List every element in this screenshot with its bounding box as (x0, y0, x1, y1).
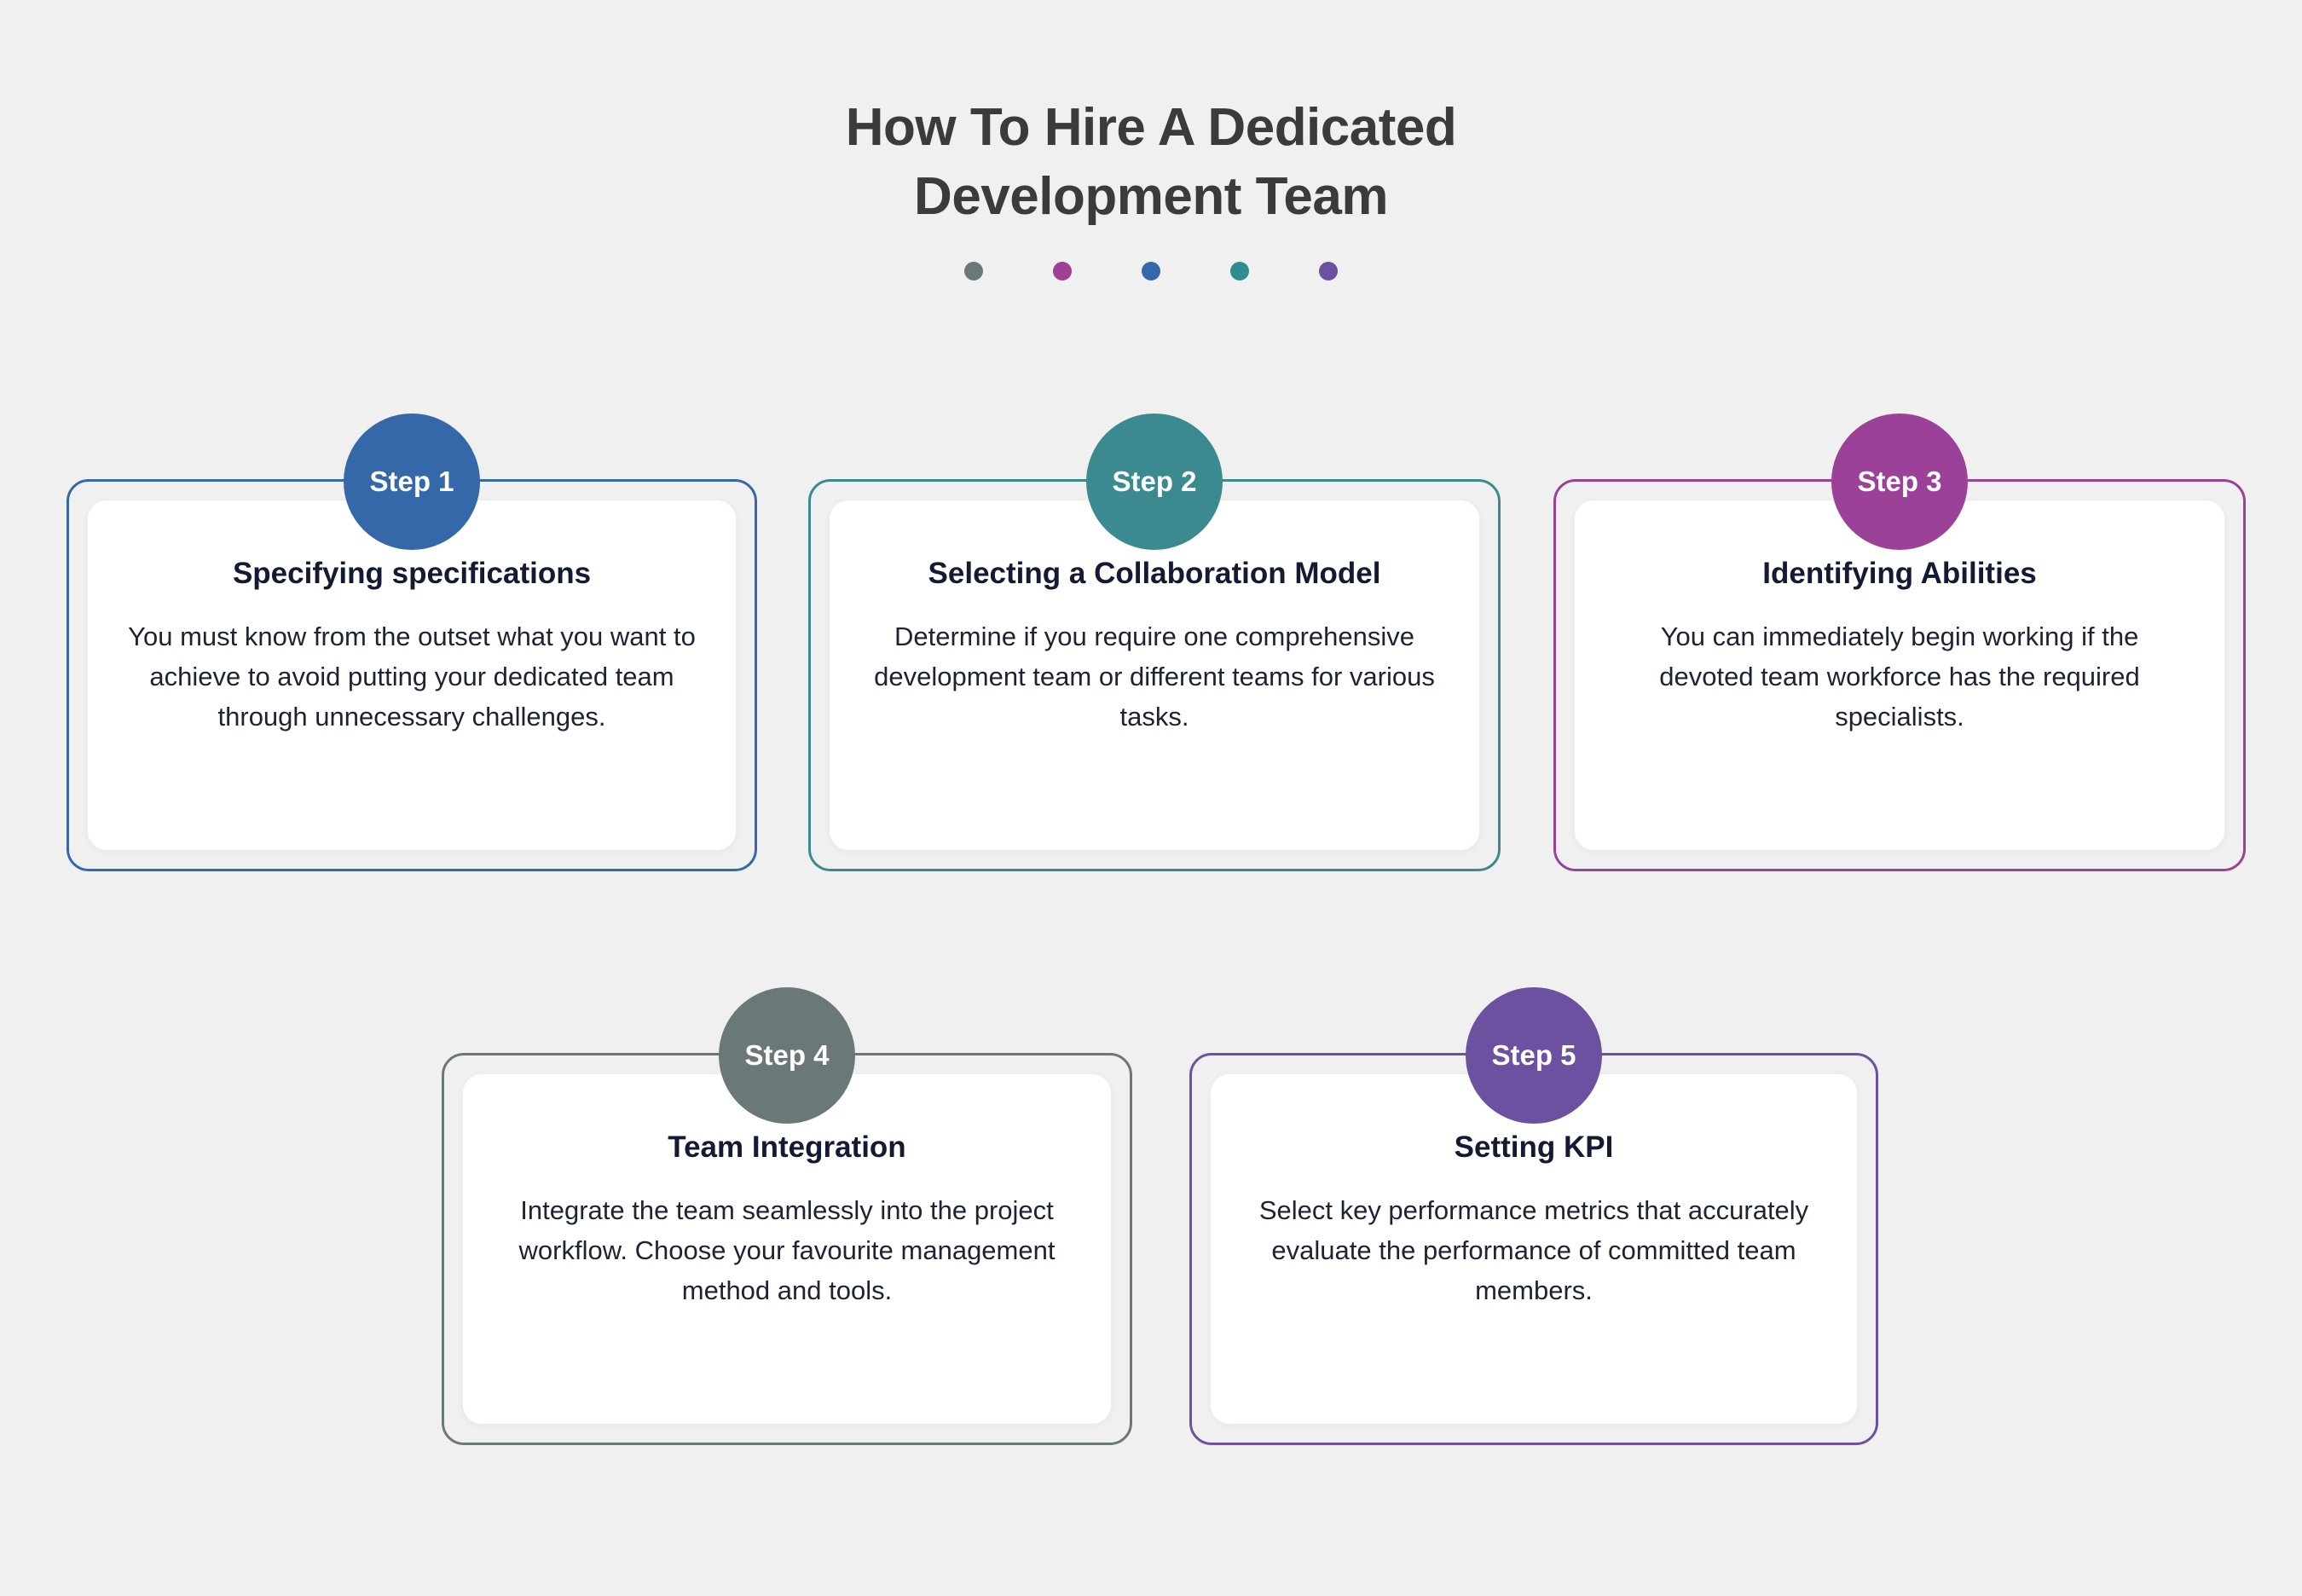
step-title-4: Team Integration (668, 1129, 905, 1166)
step-card-2[interactable]: Step 2 Selecting a Collaboration Model D… (808, 479, 1501, 871)
step-description-4: Integrate the team seamlessly into the p… (500, 1190, 1073, 1310)
page-title-line-1: How To Hire A Dedicated (0, 94, 2302, 163)
step-card-inner-1: Specifying specifications You must know … (88, 500, 736, 850)
step-card-3[interactable]: Step 3 Identifying Abilities You can imm… (1553, 479, 2246, 871)
step-description-1: You must know from the outset what you w… (125, 616, 698, 737)
dot-magenta-icon (1053, 262, 1072, 280)
step-badge-4: Step 4 (719, 987, 855, 1124)
step-title-2: Selecting a Collaboration Model (928, 555, 1381, 593)
step-badge-label-4: Step 4 (744, 1039, 829, 1072)
step-badge-2: Step 2 (1086, 413, 1223, 550)
step-description-5: Select key performance metrics that accu… (1248, 1190, 1819, 1310)
decorative-dots-row (0, 262, 2302, 280)
step-title-3: Identifying Abilities (1762, 555, 2037, 593)
step-badge-label-2: Step 2 (1112, 465, 1196, 498)
step-badge-5: Step 5 (1466, 987, 1602, 1124)
step-title-1: Specifying specifications (233, 555, 591, 593)
step-card-inner-2: Selecting a Collaboration Model Determin… (830, 500, 1479, 850)
dot-teal-icon (1230, 262, 1249, 280)
step-description-2: Determine if you require one comprehensi… (867, 616, 1442, 737)
step-card-4[interactable]: Step 4 Team Integration Integrate the te… (442, 1053, 1132, 1445)
step-card-5[interactable]: Step 5 Setting KPI Select key performanc… (1189, 1053, 1878, 1445)
page-title-line-2: Development Team (0, 163, 2302, 232)
step-card-inner-3: Identifying Abilities You can immediatel… (1575, 500, 2224, 850)
dot-gray-icon (964, 262, 983, 280)
infographic-header: How To Hire A Dedicated Development Team (0, 94, 2302, 280)
step-badge-1: Step 1 (344, 413, 480, 550)
step-badge-3: Step 3 (1831, 413, 1968, 550)
step-description-3: You can immediately begin working if the… (1612, 616, 2187, 737)
step-card-1[interactable]: Step 1 Specifying specifications You mus… (67, 479, 757, 871)
step-title-5: Setting KPI (1455, 1129, 1614, 1166)
step-badge-label-3: Step 3 (1857, 465, 1941, 498)
dot-blue-icon (1142, 262, 1160, 280)
step-card-inner-4: Team Integration Integrate the team seam… (463, 1074, 1111, 1424)
step-badge-label-1: Step 1 (369, 465, 454, 498)
step-card-inner-5: Setting KPI Select key performance metri… (1211, 1074, 1857, 1424)
step-badge-label-5: Step 5 (1491, 1039, 1576, 1072)
dot-purple-icon (1319, 262, 1338, 280)
page-title: How To Hire A Dedicated Development Team (0, 94, 2302, 231)
